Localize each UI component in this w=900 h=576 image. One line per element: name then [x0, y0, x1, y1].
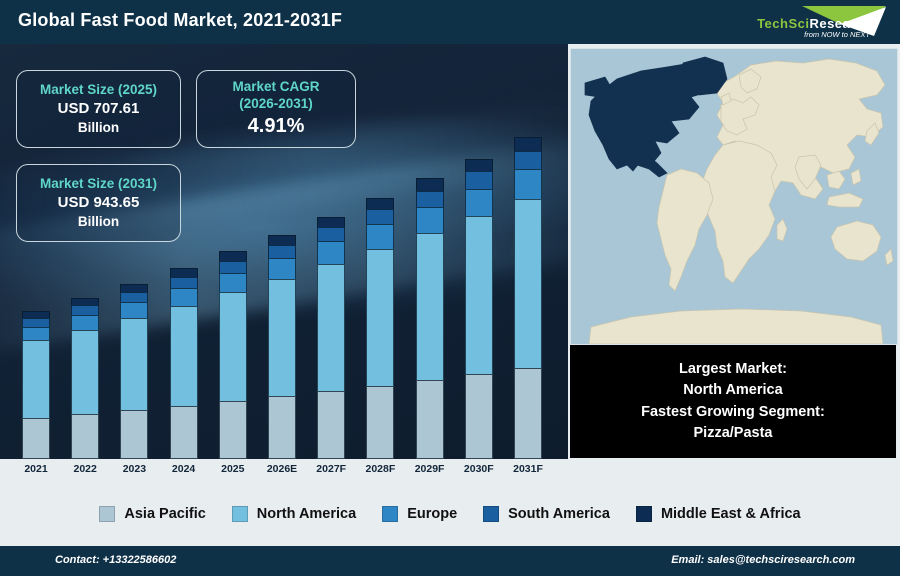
bar-segment	[71, 330, 99, 415]
bar-segment	[22, 318, 50, 327]
bar-segment	[514, 169, 542, 199]
footer-bar: Contact: +13322586602 Email: sales@techs…	[0, 546, 900, 576]
bar-segment	[268, 279, 296, 397]
footer-email: Email: sales@techsciresearch.com	[671, 554, 855, 566]
bar-2028F	[366, 198, 394, 459]
bar-segment	[219, 273, 247, 292]
bar-2027F	[317, 217, 345, 459]
bar-segment	[219, 292, 247, 401]
bar-segment	[268, 258, 296, 279]
footer-contact: Contact: +13322586602	[55, 554, 176, 566]
bar-segment	[317, 241, 345, 264]
bar-segment	[170, 288, 198, 306]
legend-item-middle-east-africa[interactable]: Middle East & Africa	[636, 506, 801, 522]
legend-swatch-icon	[232, 506, 248, 522]
bar-segment	[170, 277, 198, 288]
x-axis-label: 2021	[13, 463, 59, 475]
bar-2026E	[268, 235, 296, 459]
legend-label: Asia Pacific	[124, 506, 205, 522]
legend-label: Europe	[407, 506, 457, 522]
bar-segment	[170, 306, 198, 406]
legend-item-europe[interactable]: Europe	[382, 506, 457, 522]
logo-wordmark: TechSciResearch	[757, 16, 872, 31]
x-axis-label: 2030F	[456, 463, 502, 475]
legend-label: North America	[257, 506, 356, 522]
x-axis-label: 2023	[111, 463, 157, 475]
bar-segment	[416, 207, 444, 233]
legend-swatch-icon	[483, 506, 499, 522]
chart-legend: Asia PacificNorth AmericaEuropeSouth Ame…	[0, 484, 900, 544]
bar-segment	[317, 391, 345, 459]
bar-segment	[514, 368, 542, 459]
bar-segment	[366, 198, 394, 210]
logo-name-research: Research	[809, 16, 872, 31]
x-axis-label: 2027F	[308, 463, 354, 475]
bar-segment	[170, 406, 198, 459]
bar-segment	[465, 159, 493, 172]
bar-segment	[71, 298, 99, 305]
legend-item-south-america[interactable]: South America	[483, 506, 610, 522]
bar-segment	[416, 233, 444, 380]
bar-segment	[317, 264, 345, 391]
bar-segment	[465, 216, 493, 374]
legend-swatch-icon	[636, 506, 652, 522]
bar-segment	[416, 191, 444, 207]
x-axis-labels: 202120222023202420252026E2027F2028F2029F…	[0, 459, 568, 484]
bar-segment	[120, 318, 148, 410]
world-map	[570, 48, 898, 345]
bar-segment	[366, 249, 394, 386]
callout-line-largest-market-value: North America	[683, 380, 782, 401]
bar-segment	[71, 414, 99, 459]
legend-label: Middle East & Africa	[661, 506, 801, 522]
x-axis-label: 2026E	[259, 463, 305, 475]
chart-panel: Market Size (2025) USD 707.61 Billion Ma…	[0, 44, 568, 484]
bar-segment	[465, 171, 493, 188]
bar-segment	[120, 284, 148, 292]
bar-segment	[120, 292, 148, 302]
bar-segment	[465, 189, 493, 217]
x-axis-label: 2029F	[407, 463, 453, 475]
bar-segment	[268, 396, 296, 459]
legend-swatch-icon	[382, 506, 398, 522]
bar-segment	[366, 209, 394, 224]
logo-name-techsci: TechSci	[757, 16, 809, 31]
legend-item-north-america[interactable]: North America	[232, 506, 356, 522]
bar-segment	[514, 137, 542, 151]
x-axis-label: 2024	[161, 463, 207, 475]
bar-2025	[219, 251, 247, 459]
bar-segment	[268, 235, 296, 245]
techsci-logo: TechSciResearch from NOW to NEXT	[714, 2, 892, 42]
infographic-poster: Global Fast Food Market, 2021-2031F Tech…	[0, 0, 900, 576]
bar-2023	[120, 284, 148, 459]
bar-segment	[170, 268, 198, 277]
bar-segment	[22, 418, 50, 459]
legend-item-asia-pacific[interactable]: Asia Pacific	[99, 506, 205, 522]
bar-segment	[71, 305, 99, 315]
bar-segment	[366, 386, 394, 459]
bar-segment	[71, 315, 99, 330]
x-axis-label: 2025	[210, 463, 256, 475]
bar-2031F	[514, 137, 542, 459]
bar-segment	[317, 227, 345, 241]
page-title: Global Fast Food Market, 2021-2031F	[18, 10, 342, 31]
header-bar: Global Fast Food Market, 2021-2031F Tech…	[0, 0, 900, 44]
bar-2029F	[416, 178, 444, 459]
bar-segment	[514, 151, 542, 169]
bar-segment	[416, 380, 444, 459]
bar-segment	[317, 217, 345, 228]
bar-segment	[120, 302, 148, 318]
bar-segment	[22, 327, 50, 341]
bar-2022	[71, 298, 99, 459]
x-axis-label: 2022	[62, 463, 108, 475]
bar-segment	[22, 340, 50, 418]
bar-segment	[120, 410, 148, 459]
bar-segment	[465, 374, 493, 459]
bar-segment	[219, 261, 247, 273]
bar-segment	[219, 401, 247, 459]
market-highlights-callout: Largest Market: North America Fastest Gr…	[570, 345, 896, 458]
bar-segment	[366, 224, 394, 248]
stacked-bar-plot	[0, 44, 568, 484]
legend-label: South America	[508, 506, 610, 522]
callout-line-fastest-segment-value: Pizza/Pasta	[694, 423, 773, 444]
bar-segment	[219, 251, 247, 260]
x-axis-label: 2028F	[357, 463, 403, 475]
legend-swatch-icon	[99, 506, 115, 522]
logo-tagline: from NOW to NEXT	[804, 30, 870, 39]
bar-2021	[22, 311, 50, 459]
x-axis-label: 2031F	[505, 463, 551, 475]
bar-2024	[170, 268, 198, 459]
bar-segment	[268, 245, 296, 258]
world-map-svg	[571, 49, 897, 344]
bar-2030F	[465, 159, 493, 459]
bar-segment	[416, 178, 444, 190]
bar-segment	[514, 199, 542, 368]
callout-line-largest-market-label: Largest Market:	[679, 359, 787, 380]
callout-line-fastest-segment-label: Fastest Growing Segment:	[641, 402, 825, 423]
